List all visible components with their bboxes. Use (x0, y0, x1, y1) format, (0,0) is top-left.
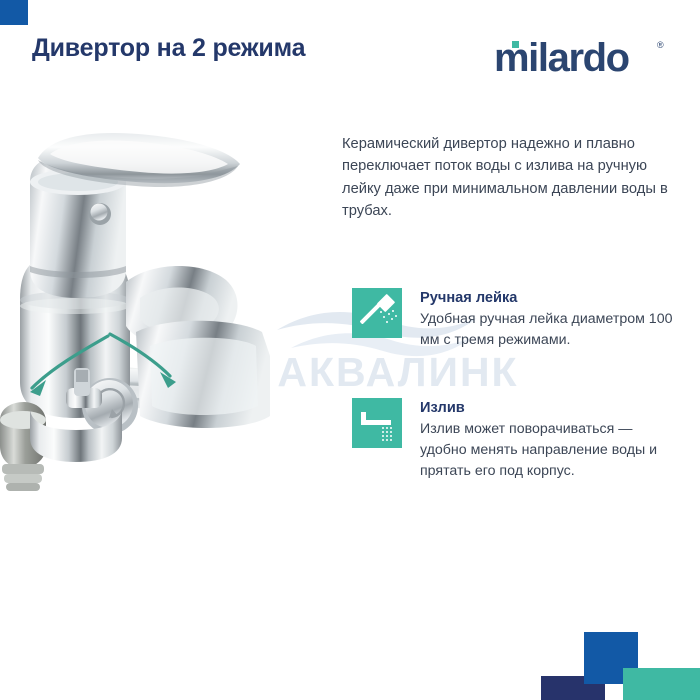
registered-trademark-icon: ® (657, 40, 664, 50)
feature-spout-title: Излив (420, 399, 682, 418)
spout-icon (352, 398, 402, 448)
feature-hand-shower-title: Ручная лейка (420, 289, 682, 308)
feature-hand-shower: Ручная лейка Удобная ручная лейка диамет… (352, 288, 682, 351)
promo-page: Дивертор на 2 режима milardo ® Керамичес… (0, 0, 700, 700)
hand-shower-icon (352, 288, 402, 338)
feature-spout: Излив Излив может поворачиваться — удобн… (352, 398, 682, 481)
page-title: Дивертор на 2 режима (32, 32, 332, 64)
product-image (0, 120, 320, 540)
feature-hand-shower-description: Удобная ручная лейка диаметром 100 мм с … (420, 309, 682, 350)
hand-shower-spray-dots (377, 304, 399, 324)
brand-logo-dot-icon (512, 41, 519, 48)
corner-square-top-left (0, 0, 28, 25)
intro-paragraph: Керамический дивертор надежно и плавно п… (342, 133, 672, 222)
feature-spout-body: Излив Излив может поворачиваться — удобн… (420, 398, 682, 481)
corner-square-teal (623, 668, 700, 700)
feature-hand-shower-body: Ручная лейка Удобная ручная лейка диамет… (420, 288, 682, 351)
brand-logo: milardo ® (494, 36, 674, 80)
feature-spout-description: Излив может поворачиваться — удобно меня… (420, 419, 682, 481)
spout-horizontal-shape (361, 420, 391, 425)
spout-water-dots (382, 427, 396, 445)
faucet-illustration (0, 120, 320, 540)
